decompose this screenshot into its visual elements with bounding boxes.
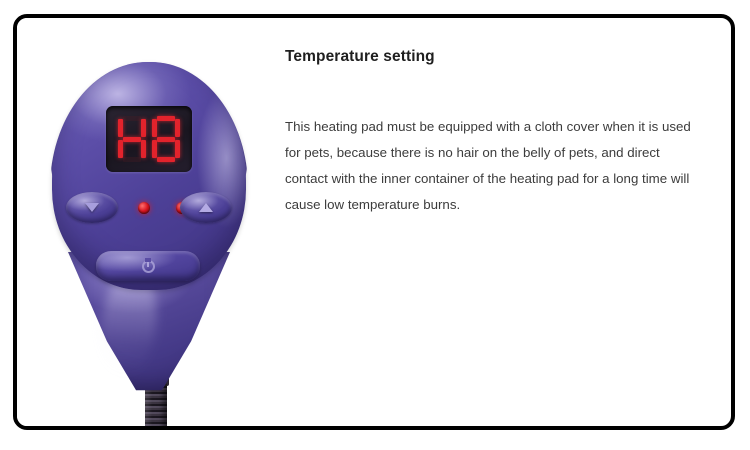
segment-c-icon — [141, 140, 146, 158]
page-root: Temperature setting This heating pad mus… — [0, 0, 750, 450]
segment-e-icon — [152, 140, 157, 158]
segment-b-icon — [141, 119, 146, 137]
segment-f-icon — [118, 119, 123, 137]
temperature-display — [106, 106, 192, 172]
section-paragraph: This heating pad must be equipped with a… — [285, 114, 705, 218]
display-digit-2 — [152, 116, 180, 162]
segment-d-icon — [123, 157, 141, 162]
segment-d-icon — [157, 157, 175, 162]
display-digit-1 — [118, 116, 146, 162]
chevron-up-icon — [199, 203, 213, 212]
segment-a-icon — [157, 116, 175, 121]
power-icon — [142, 260, 155, 273]
segment-g-icon — [157, 137, 175, 142]
segment-c-icon — [175, 140, 180, 158]
segment-b-icon — [175, 119, 180, 137]
decrease-temperature-button[interactable] — [66, 192, 118, 223]
segment-e-icon — [118, 140, 123, 158]
content-frame: Temperature setting This heating pad mus… — [13, 14, 735, 430]
led-left-icon — [138, 202, 150, 214]
text-content: Temperature setting This heating pad mus… — [285, 18, 731, 426]
product-photo — [17, 18, 293, 426]
segment-g-icon — [123, 137, 141, 142]
increase-temperature-button[interactable] — [180, 192, 232, 223]
segment-a-icon — [123, 116, 141, 121]
power-button[interactable] — [96, 251, 200, 281]
chevron-down-icon — [85, 203, 99, 212]
section-heading: Temperature setting — [285, 48, 705, 66]
segment-f-icon — [152, 119, 157, 137]
heating-pad-controller — [50, 62, 248, 384]
